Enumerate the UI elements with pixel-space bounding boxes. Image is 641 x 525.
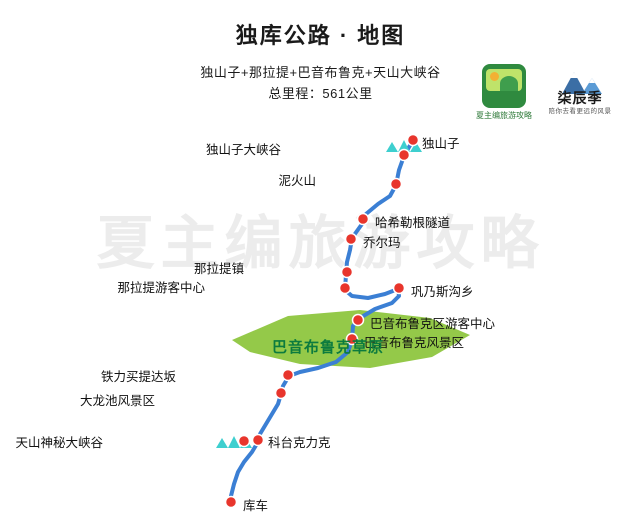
- map-label: 铁力买提达坂: [101, 366, 176, 385]
- map-marker[interactable]: [391, 179, 402, 190]
- map-marker[interactable]: [358, 214, 369, 225]
- logo-hill-icon: [500, 76, 518, 91]
- park-logo-icon: [482, 64, 526, 108]
- map-label: 库车: [243, 495, 268, 514]
- map-marker[interactable]: [342, 267, 353, 278]
- map-label: 天山神秘大峡谷: [15, 432, 103, 451]
- map-label: 独山子大峡谷: [206, 139, 281, 158]
- map-marker[interactable]: [394, 283, 405, 294]
- map-marker[interactable]: [239, 436, 250, 447]
- map-label: 独山子: [422, 133, 460, 152]
- park-logo-caption: 夏主编旅游攻略: [462, 110, 546, 121]
- map-page: 夏主编旅游攻略 独库公路 · 地图 独山子+那拉提+巴音布鲁克+天山大峡谷 总里…: [0, 0, 641, 525]
- map-marker[interactable]: [276, 388, 287, 399]
- region-label-bayinbuluke: 巴音布鲁克草原: [272, 336, 384, 357]
- map-marker[interactable]: [353, 315, 364, 326]
- brand-tagline: 陪你去看更远的风景: [540, 105, 620, 115]
- page-title: 独库公路 · 地图: [0, 18, 641, 50]
- map-marker[interactable]: [340, 283, 351, 294]
- map-label: 那拉提镇: [194, 258, 244, 277]
- map-marker[interactable]: [253, 435, 264, 446]
- map-label: 巩乃斯沟乡: [411, 281, 474, 300]
- map-marker[interactable]: [226, 497, 237, 508]
- map-marker[interactable]: [283, 370, 294, 381]
- map-marker[interactable]: [399, 150, 410, 161]
- logo-bottom-bar: [486, 93, 522, 104]
- map-label: 大龙池风景区: [80, 390, 155, 409]
- map-label: 哈希勒根隧道: [375, 212, 450, 231]
- map-marker[interactable]: [408, 135, 419, 146]
- map-label: 泥火山: [278, 170, 316, 189]
- map-label: 那拉提游客中心: [117, 277, 205, 296]
- map-label: 乔尔玛: [363, 232, 401, 251]
- map-label: 科台克力克: [268, 432, 331, 451]
- map-marker[interactable]: [346, 234, 357, 245]
- logo-sun-icon: [490, 72, 499, 81]
- map-label: 巴音布鲁克区游客中心: [370, 313, 495, 332]
